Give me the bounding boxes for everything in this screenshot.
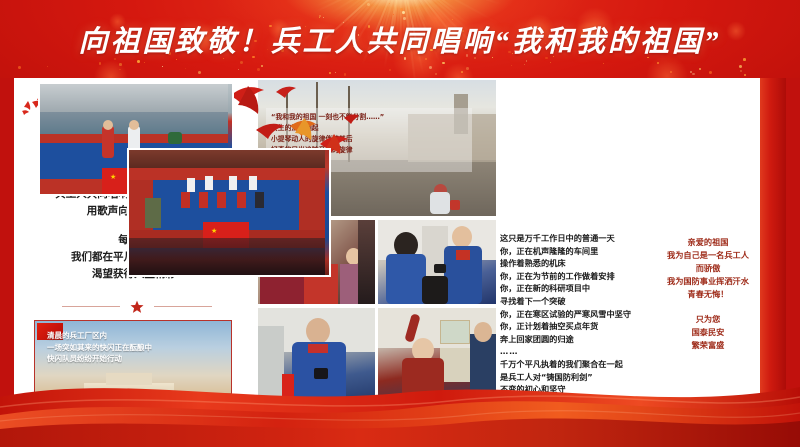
- body-text-line: 你，正在寒区试验的严寒风雪中坚守: [500, 308, 640, 321]
- factory-building: [84, 383, 174, 408]
- potted-plant: [168, 132, 182, 144]
- choir-member: [205, 176, 213, 190]
- body-text-line: 你，正在为节前的工作做着安排: [500, 270, 640, 283]
- person-body: [386, 254, 426, 304]
- person-body: [402, 358, 444, 406]
- photo-young-woman-waving: [378, 308, 496, 406]
- choir-member: [181, 192, 190, 208]
- choir-member: [217, 192, 226, 208]
- audience-crowd: [129, 238, 325, 275]
- body-text-line: 你，正在机声隆隆的车间里: [500, 245, 640, 258]
- photo-caption-line: 快闪队员纷纷开始行动: [47, 353, 217, 365]
- singer-head: [103, 120, 113, 130]
- red-carpet-right: [299, 180, 325, 232]
- closing-text-line: 不变的初心和坚守: [500, 383, 640, 396]
- photo-caption-text: 清晨的兵工厂区内 一场突如其来的快闪正在酝酿中 快闪队员纷纷开始行动: [47, 330, 217, 365]
- hall-ceiling: [40, 84, 228, 112]
- body-text-line: 奔上回家团圆的归途: [500, 333, 640, 346]
- divider-line-right: [154, 306, 212, 307]
- bike-basket: [450, 200, 460, 210]
- ellipsis-line: ……: [500, 345, 640, 358]
- content-panel: 2019年我们将迎来祖国70华诞 在此辞旧迎新的美好时刻 兵工人共同唱响《我和我…: [14, 78, 786, 408]
- right-column-text: 亲爱的祖国 我为自己是一名兵工人 而骄傲 我为国防事业挥洒汗水 青春无悔！ 只为…: [644, 236, 772, 352]
- right-poem-line: 国泰民安: [644, 326, 772, 339]
- flag-star-icon: ★: [211, 228, 217, 235]
- right-poem-line: 而骄傲: [644, 262, 772, 275]
- office-chair: [422, 276, 448, 304]
- phone: [314, 368, 328, 379]
- right-poem-line: 青春无悔！: [644, 288, 772, 301]
- section-divider: [62, 300, 212, 314]
- cyclist-body: [430, 192, 450, 214]
- phone: [434, 264, 446, 273]
- audience-member: [145, 198, 161, 228]
- foreground-blur: [358, 220, 375, 304]
- red-star-icon: [130, 300, 144, 314]
- photo-factory-dawn: 清晨的兵工厂区内 一场突如其来的快闪正在酝酿中 快闪队员纷纷开始行动: [34, 320, 232, 408]
- center-body-text: 这只是万千工作日中的普通一天 你，正在机声隆隆的车间里 操作着熟悉的机床 你，正…: [500, 232, 640, 396]
- body-text-line: 你，正在新的科研项目中: [500, 282, 640, 295]
- divider-line-left: [62, 306, 120, 307]
- red-collar: [456, 250, 470, 260]
- person-head: [452, 226, 472, 248]
- person-head: [474, 322, 492, 342]
- chinese-flag-decoration: [282, 374, 294, 406]
- header-banner: 向祖国致敬！兵工人共同唱响“我和我的祖国”: [0, 0, 800, 78]
- choir-member: [199, 192, 208, 208]
- closing-text-line: 千万个平凡执着的我们聚合在一起: [500, 358, 640, 371]
- choir-member: [187, 178, 195, 192]
- right-poem-line: 只为您: [644, 313, 772, 326]
- photo-flashmob-hall-choir-crowd: ★: [127, 148, 331, 277]
- spacer: [644, 301, 772, 313]
- photo-two-workers-blue-uniform: [378, 220, 496, 304]
- photo-caption-line: 清晨的兵工厂区内: [47, 330, 217, 342]
- red-carpet-border: [129, 168, 325, 180]
- right-poem-line: 繁荣富盛: [644, 339, 772, 352]
- photo-worker-reading-phone: [258, 308, 375, 406]
- person-head: [306, 318, 330, 344]
- right-poem-line: 我为国防事业挥洒汗水: [644, 275, 772, 288]
- singer-red: [102, 126, 114, 158]
- body-text-line: 你，正计划着抽空买点年货: [500, 320, 640, 333]
- body-text-line: 寻找着下一个突破: [500, 295, 640, 308]
- flag-star-icon: ★: [110, 174, 116, 181]
- choir-member: [229, 176, 237, 190]
- right-poem-line: 亲爱的祖国: [644, 236, 772, 249]
- right-poem-line: 我为自己是一名兵工人: [644, 249, 772, 262]
- equipment: [258, 326, 284, 406]
- photo-caption-line: 一场突如其来的快闪正在酝酿中: [47, 342, 217, 354]
- page-title: 向祖国致敬！兵工人共同唱响“我和我的祖国”: [0, 18, 800, 60]
- cabinet: [440, 348, 470, 382]
- body-text-line: 操作着熟悉的机床: [500, 257, 640, 270]
- poster-root: 向祖国致敬！兵工人共同唱响“我和我的祖国”: [0, 0, 800, 447]
- choir-member: [237, 192, 246, 208]
- choir-member: [249, 176, 257, 190]
- second-person: [470, 334, 496, 406]
- singer-head: [129, 120, 139, 130]
- body-text-line: 这只是万千工作日中的普通一天: [500, 232, 640, 245]
- red-collar: [308, 344, 328, 353]
- hall-background: [129, 150, 325, 168]
- choir-member: [255, 192, 264, 208]
- closing-text-line: 是兵工人对“铸国防利剑”: [500, 371, 640, 384]
- framed-picture: [440, 320, 470, 344]
